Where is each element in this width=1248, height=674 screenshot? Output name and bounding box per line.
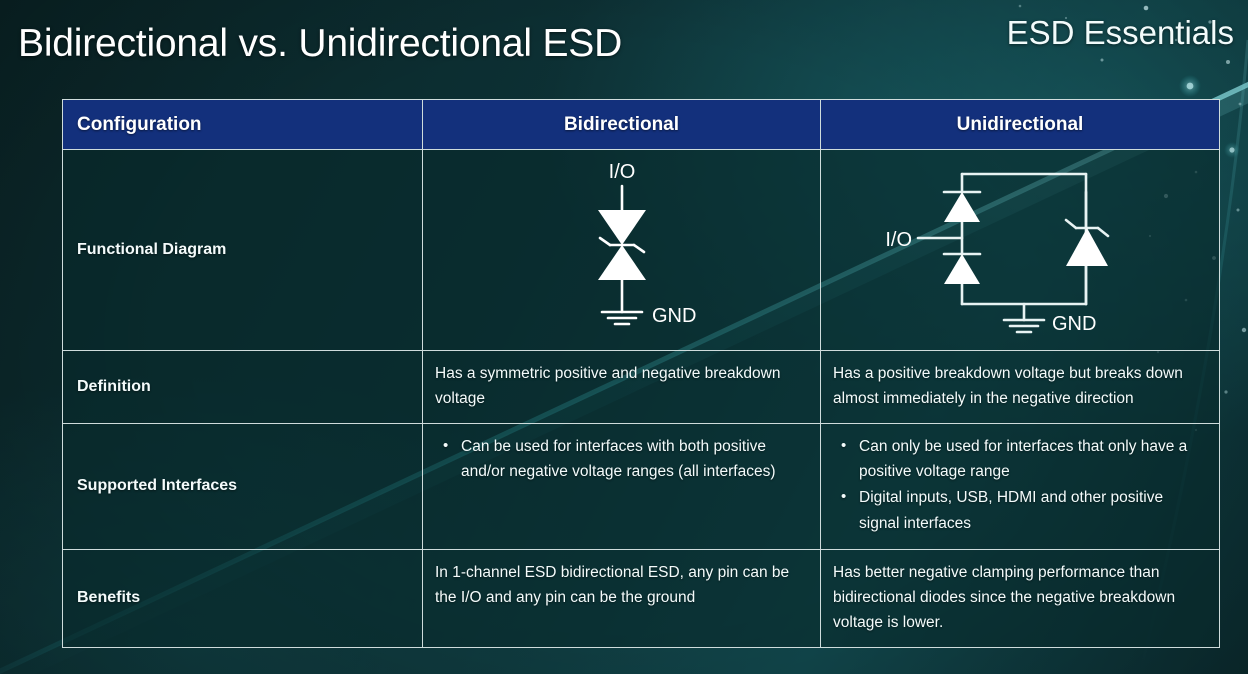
unidirectional-io-label: I/O [885, 229, 912, 251]
list-item: • Can be used for interfaces with both p… [435, 434, 808, 484]
list-item-label: Can be used for interfaces with both pos… [461, 438, 776, 480]
cell-benefits-unidirectional: Has better negative clamping performance… [821, 549, 1220, 647]
bullet-icon: • [841, 434, 846, 458]
list-item: • Digital inputs, USB, HDMI and other po… [833, 485, 1207, 535]
deck-subtitle: ESD Essentials [1007, 16, 1234, 49]
row-label-benefits: Benefits [63, 549, 423, 647]
list-item-label: Digital inputs, USB, HDMI and other posi… [859, 489, 1163, 531]
comparison-table-container: Configuration Bidirectional Unidirection… [62, 99, 1219, 648]
interfaces-bidirectional-list: • Can be used for interfaces with both p… [435, 434, 808, 484]
row-label-supported-interfaces: Supported Interfaces [63, 424, 423, 549]
list-item-label: Can only be used for interfaces that onl… [859, 438, 1187, 480]
cell-definition-unidirectional: Has a positive breakdown voltage but bre… [821, 351, 1220, 424]
unidirectional-gnd-label: GND [1052, 313, 1096, 335]
bidirectional-gnd-label: GND [652, 305, 696, 327]
definition-bidirectional-text: Has a symmetric positive and negative br… [435, 361, 808, 411]
table-row: Functional Diagram [63, 150, 1220, 351]
column-header-configuration: Configuration [63, 100, 423, 150]
benefits-bidirectional-text: In 1-channel ESD bidirectional ESD, any … [435, 560, 808, 610]
column-header-bidirectional: Bidirectional [423, 100, 821, 150]
interfaces-unidirectional-list: • Can only be used for interfaces that o… [833, 434, 1207, 535]
table-header-row: Configuration Bidirectional Unidirection… [63, 100, 1220, 150]
benefits-unidirectional-text: Has better negative clamping performance… [833, 560, 1207, 635]
unidirectional-esd-symbol: I/O GND [870, 152, 1170, 348]
cell-interfaces-unidirectional: • Can only be used for interfaces that o… [821, 424, 1220, 549]
cell-unidirectional-diagram: I/O GND [821, 150, 1220, 351]
row-label-definition: Definition [63, 351, 423, 424]
table-row: Definition Has a symmetric positive and … [63, 351, 1220, 424]
bidirectional-esd-symbol: I/O GND [512, 152, 732, 348]
page-title: Bidirectional vs. Unidirectional ESD [18, 24, 622, 63]
table-row: Supported Interfaces • Can be used for i… [63, 424, 1220, 549]
cell-interfaces-bidirectional: • Can be used for interfaces with both p… [423, 424, 821, 549]
cell-bidirectional-diagram: I/O GND [423, 150, 821, 351]
bullet-icon: • [841, 485, 846, 509]
bidirectional-io-label: I/O [608, 161, 635, 183]
list-item: • Can only be used for interfaces that o… [833, 434, 1207, 484]
comparison-table: Configuration Bidirectional Unidirection… [62, 99, 1220, 648]
bullet-icon: • [443, 434, 448, 458]
row-label-functional-diagram: Functional Diagram [63, 150, 423, 351]
cell-definition-bidirectional: Has a symmetric positive and negative br… [423, 351, 821, 424]
table-row: Benefits In 1-channel ESD bidirectional … [63, 549, 1220, 647]
column-header-unidirectional: Unidirectional [821, 100, 1220, 150]
definition-unidirectional-text: Has a positive breakdown voltage but bre… [833, 361, 1207, 411]
cell-benefits-bidirectional: In 1-channel ESD bidirectional ESD, any … [423, 549, 821, 647]
